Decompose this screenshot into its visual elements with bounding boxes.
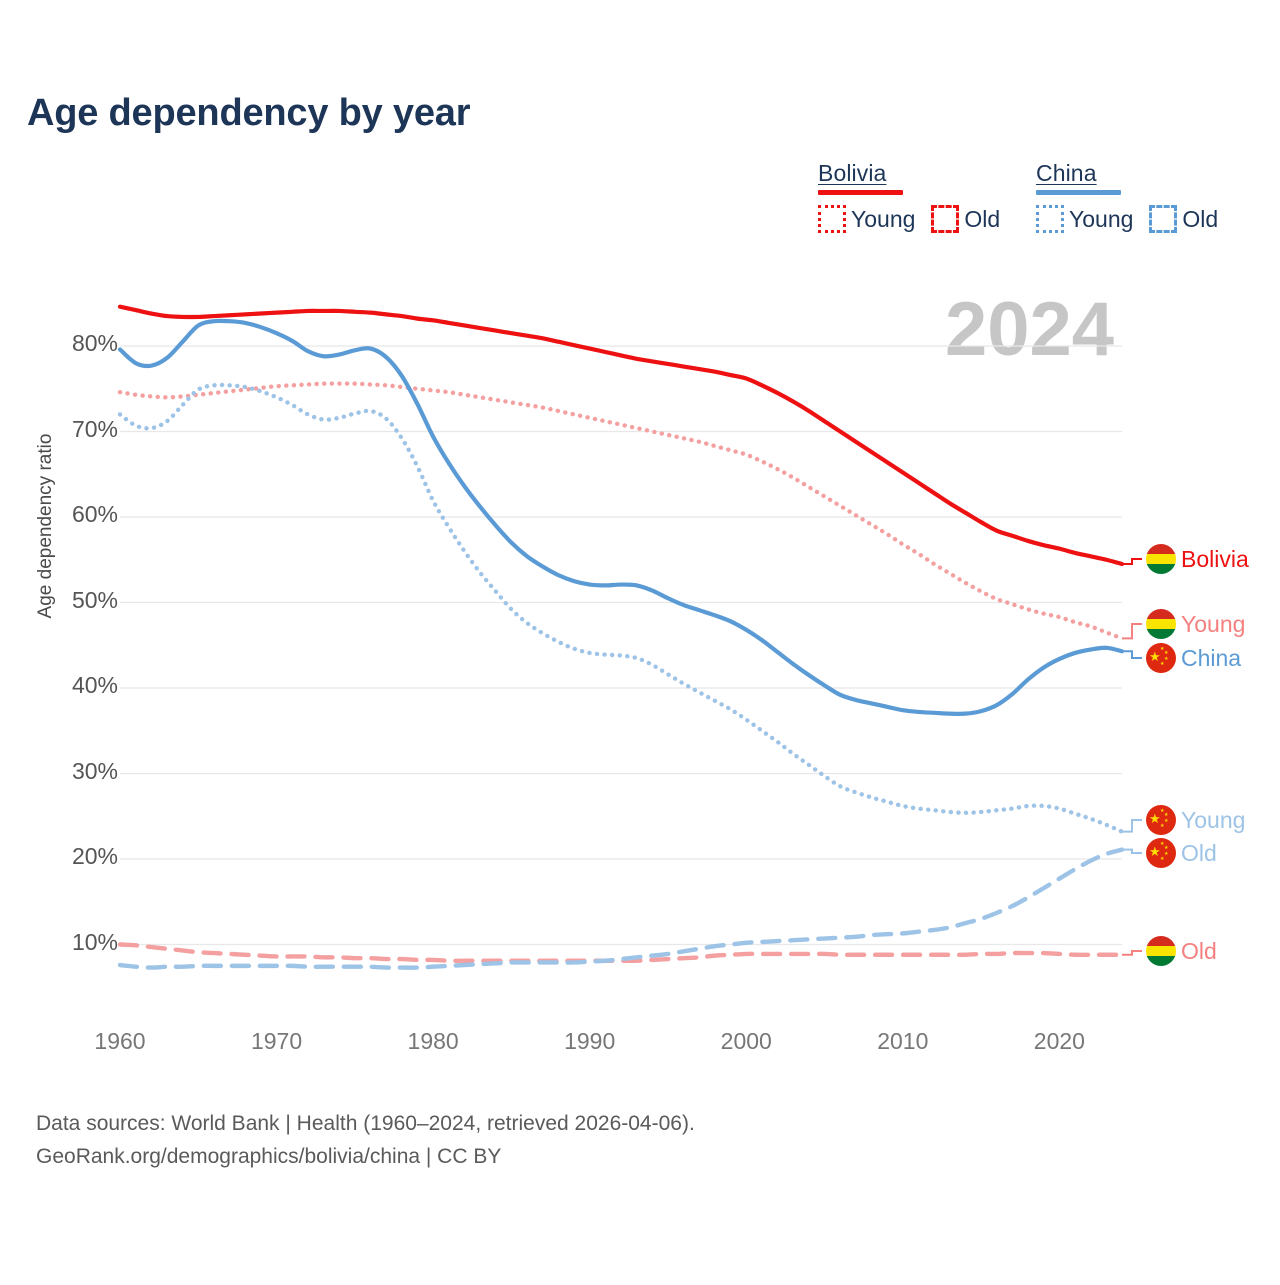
x-tick-label: 2010: [843, 1028, 963, 1055]
leader-line-china-young: [1122, 820, 1142, 832]
leader-line-bolivia-total: [1122, 559, 1142, 564]
end-label-text: Old: [1181, 938, 1217, 965]
y-tick-label: 50%: [0, 587, 118, 614]
end-label-text: Bolivia: [1181, 546, 1249, 573]
bolivia-flag: [1146, 936, 1176, 966]
end-label-bolivia-young[interactable]: Young: [1146, 609, 1245, 639]
china-flag: ★★★★★: [1146, 805, 1176, 835]
end-label-text: Young: [1181, 611, 1245, 638]
series-line-bolivia_old: [120, 945, 1122, 961]
footer: Data sources: World Bank | Health (1960–…: [36, 1108, 695, 1173]
china-flag: ★★★★★: [1146, 643, 1176, 673]
y-tick-label: 40%: [0, 672, 118, 699]
end-label-text: China: [1181, 645, 1241, 672]
series-line-bolivia_young: [120, 384, 1122, 639]
y-tick-label: 30%: [0, 758, 118, 785]
y-tick-label: 60%: [0, 501, 118, 528]
y-tick-label: 20%: [0, 843, 118, 870]
end-label-bolivia-old[interactable]: Old: [1146, 936, 1217, 966]
bolivia-flag: [1146, 544, 1176, 574]
end-label-bolivia-total[interactable]: Bolivia: [1146, 544, 1249, 574]
leader-line-bolivia-old: [1122, 951, 1142, 955]
x-tick-label: 2000: [686, 1028, 806, 1055]
chart-page: Age dependency by year Bolivia Young Old…: [0, 0, 1280, 1280]
chart-plot-area: Age dependency ratio 10%20%30%40%50%60%7…: [0, 0, 1280, 1280]
footer-sources: Data sources: World Bank | Health (1960–…: [36, 1108, 695, 1141]
end-label-china-young[interactable]: ★★★★★Young: [1146, 805, 1245, 835]
series-line-bolivia_total: [120, 307, 1122, 564]
end-label-text: Old: [1181, 840, 1217, 867]
series-line-china_old: [120, 850, 1122, 968]
end-label-text: Young: [1181, 807, 1245, 834]
x-tick-label: 1970: [217, 1028, 337, 1055]
bolivia-flag: [1146, 609, 1176, 639]
series-line-china_young: [120, 385, 1122, 832]
y-tick-label: 70%: [0, 416, 118, 443]
y-tick-label: 80%: [0, 330, 118, 357]
x-tick-label: 1990: [530, 1028, 650, 1055]
end-label-china-old[interactable]: ★★★★★Old: [1146, 838, 1217, 868]
chart-svg: [0, 0, 1280, 1280]
x-tick-label: 2020: [999, 1028, 1119, 1055]
china-flag: ★★★★★: [1146, 838, 1176, 868]
footer-attribution: GeoRank.org/demographics/bolivia/china |…: [36, 1141, 695, 1174]
leader-line-china-old: [1122, 850, 1142, 853]
x-tick-label: 1980: [373, 1028, 493, 1055]
end-label-china-total[interactable]: ★★★★★China: [1146, 643, 1241, 673]
leader-line-bolivia-young: [1122, 624, 1142, 638]
x-tick-label: 1960: [60, 1028, 180, 1055]
leader-line-china-total: [1122, 651, 1142, 658]
y-tick-label: 10%: [0, 929, 118, 956]
